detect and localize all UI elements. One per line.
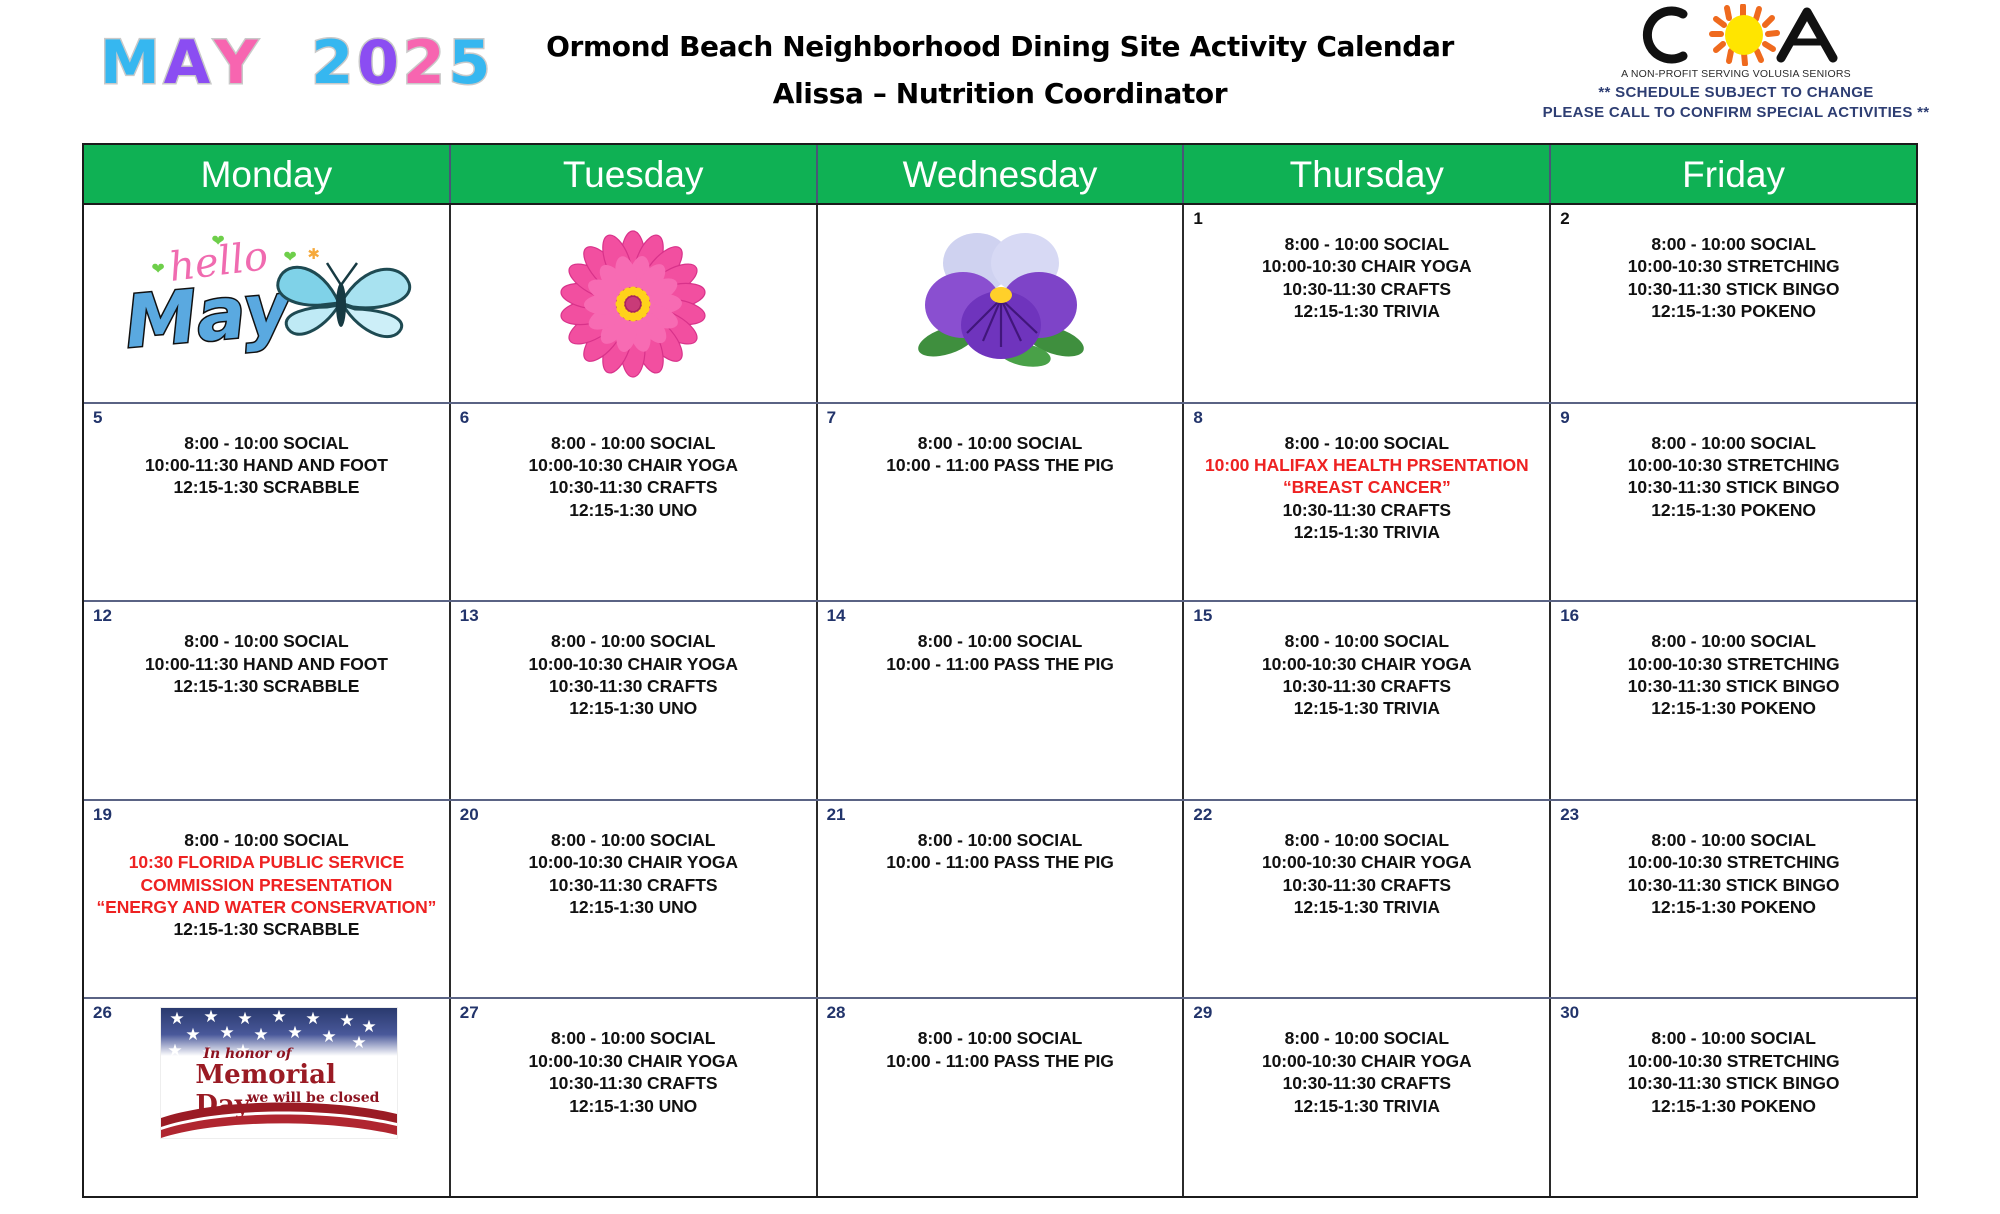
month-title: MAY 2025	[100, 28, 494, 98]
event-item: 8:00 - 10:00 SOCIAL	[457, 432, 810, 454]
event-item: 10:00 - 11:00 PASS THE PIG	[824, 851, 1177, 873]
event-item: 8:00 - 10:00 SOCIAL	[90, 630, 443, 652]
event-item: 10:00-10:30 CHAIR YOGA	[457, 851, 810, 873]
event-item: 12:15-1:30 TRIVIA	[1190, 896, 1543, 918]
event-item: 10:00 - 11:00 PASS THE PIG	[824, 1050, 1177, 1072]
day-cell-decorative-pansy[interactable]	[818, 205, 1185, 402]
event-item: 10:00 - 11:00 PASS THE PIG	[824, 653, 1177, 675]
event-item: 8:00 - 10:00 SOCIAL	[90, 829, 443, 851]
event-item: 12:15-1:30 TRIVIA	[1190, 1095, 1543, 1117]
day-number: 16	[1560, 606, 1579, 626]
event-item: 12:15-1:30 TRIVIA	[1190, 697, 1543, 719]
event-item-highlight: “ENERGY AND WATER CONSERVATION”	[90, 896, 443, 918]
memorial-holder: ★★★★★★★★★★★★★★★★In honor ofMemorial Dayw…	[90, 1007, 443, 1139]
event-item: 10:00-11:30 HAND AND FOOT	[90, 454, 443, 476]
event-list: 8:00 - 10:00 SOCIAL10:00-10:30 CHAIR YOG…	[457, 829, 810, 919]
event-item: 12:15-1:30 POKENO	[1557, 300, 1910, 322]
day-header-friday: Friday	[1551, 145, 1916, 203]
star-icon: ★	[219, 1024, 234, 1041]
month-title-letter	[287, 28, 312, 98]
event-list: 8:00 - 10:00 SOCIAL10:00-10:30 CHAIR YOG…	[1190, 630, 1543, 720]
event-item: 12:15-1:30 UNO	[457, 1095, 810, 1117]
event-item: 10:30-11:30 STICK BINGO	[1557, 278, 1910, 300]
event-item: 8:00 - 10:00 SOCIAL	[1557, 630, 1910, 652]
event-item: 10:00-10:30 STRETCHING	[1557, 1050, 1910, 1072]
event-item: 12:15-1:30 UNO	[457, 499, 810, 521]
event-item: 12:15-1:30 POKENO	[1557, 1095, 1910, 1117]
day-cell-5[interactable]: 58:00 - 10:00 SOCIAL10:00-11:30 HAND AND…	[84, 404, 451, 601]
event-list: 8:00 - 10:00 SOCIAL10:00 - 11:00 PASS TH…	[824, 1027, 1177, 1072]
event-item: 12:15-1:30 POKENO	[1557, 697, 1910, 719]
day-number: 15	[1193, 606, 1212, 626]
day-cell-decorative-hello-may[interactable]: ❤❤❤✱helloMay	[84, 205, 451, 402]
event-item: 10:00-10:30 STRETCHING	[1557, 454, 1910, 476]
butterfly-icon	[269, 245, 419, 365]
calendar-grid: MondayTuesdayWednesdayThursdayFriday ❤❤❤…	[82, 143, 1918, 1198]
event-item: 8:00 - 10:00 SOCIAL	[824, 829, 1177, 851]
day-header-tuesday: Tuesday	[451, 145, 818, 203]
event-item: 10:00-10:30 CHAIR YOGA	[457, 1050, 810, 1072]
event-list: 8:00 - 10:00 SOCIAL10:00 HALIFAX HEALTH …	[1190, 432, 1543, 544]
flag-stripes-icon	[161, 1092, 397, 1138]
event-item: 12:15-1:30 SCRABBLE	[90, 918, 443, 940]
may-text: May	[122, 266, 294, 364]
event-list: 8:00 - 10:00 SOCIAL10:00-10:30 CHAIR YOG…	[457, 432, 810, 522]
day-cell-30[interactable]: 308:00 - 10:00 SOCIAL10:00-10:30 STRETCH…	[1551, 999, 1916, 1196]
star-icon: ★	[321, 1028, 336, 1045]
star-icon: ★	[351, 1034, 366, 1051]
coa-logo-icon	[1496, 4, 1976, 66]
day-header-thursday: Thursday	[1184, 145, 1551, 203]
month-title-letter: Y	[214, 28, 261, 98]
event-list: 8:00 - 10:00 SOCIAL10:00-10:30 STRETCHIN…	[1557, 233, 1910, 323]
purple-pansy-graphic	[824, 211, 1177, 398]
day-cell-7[interactable]: 78:00 - 10:00 SOCIAL10:00 - 11:00 PASS T…	[818, 404, 1185, 601]
star-icon: ★	[287, 1024, 302, 1041]
event-list: 8:00 - 10:00 SOCIAL10:00-10:30 CHAIR YOG…	[1190, 829, 1543, 919]
event-item: 10:00 - 11:00 PASS THE PIG	[824, 454, 1177, 476]
day-number: 6	[460, 408, 469, 428]
day-number: 5	[93, 408, 102, 428]
event-item: 12:15-1:30 SCRABBLE	[90, 675, 443, 697]
event-item: 8:00 - 10:00 SOCIAL	[824, 432, 1177, 454]
month-title-letter: 5	[449, 28, 495, 98]
day-cell-16[interactable]: 168:00 - 10:00 SOCIAL10:00-10:30 STRETCH…	[1551, 602, 1916, 799]
coa-tagline: A NON-PROFIT SERVING VOLUSIA SENIORS	[1496, 68, 1976, 80]
event-item: 8:00 - 10:00 SOCIAL	[1190, 1027, 1543, 1049]
event-item: 10:30-11:30 STICK BINGO	[1557, 1072, 1910, 1094]
day-number: 13	[460, 606, 479, 626]
event-item: 8:00 - 10:00 SOCIAL	[90, 432, 443, 454]
event-list: 8:00 - 10:00 SOCIAL10:00-10:30 CHAIR YOG…	[457, 630, 810, 720]
event-item: 10:30-11:30 CRAFTS	[1190, 278, 1543, 300]
event-item: 8:00 - 10:00 SOCIAL	[1190, 233, 1543, 255]
star-icon: ★	[169, 1010, 184, 1027]
event-item: 8:00 - 10:00 SOCIAL	[1557, 432, 1910, 454]
event-item-highlight: 10:00 HALIFAX HEALTH PRSENTATION	[1190, 454, 1543, 476]
event-item: 10:30-11:30 STICK BINGO	[1557, 675, 1910, 697]
event-item: 12:15-1:30 POKENO	[1557, 896, 1910, 918]
day-cell-23[interactable]: 238:00 - 10:00 SOCIAL10:00-10:30 STRETCH…	[1551, 801, 1916, 998]
event-item: 10:00-10:30 CHAIR YOGA	[457, 454, 810, 476]
hello-may-graphic: ❤❤❤✱helloMay	[90, 211, 443, 398]
day-number: 20	[460, 805, 479, 825]
star-icon: ★	[203, 1008, 218, 1025]
event-item: 10:30-11:30 CRAFTS	[457, 476, 810, 498]
event-item-highlight: 10:30 FLORIDA PUBLIC SERVICE COMMISSION …	[90, 851, 443, 896]
event-list: 8:00 - 10:00 SOCIAL10:00 - 11:00 PASS TH…	[824, 829, 1177, 874]
day-cell-28[interactable]: 288:00 - 10:00 SOCIAL10:00 - 11:00 PASS …	[818, 999, 1185, 1196]
event-list: 8:00 - 10:00 SOCIAL10:00 - 11:00 PASS TH…	[824, 630, 1177, 675]
event-item: 10:00-11:30 HAND AND FOOT	[90, 653, 443, 675]
day-number: 29	[1193, 1003, 1212, 1023]
flower-icon	[905, 229, 1095, 379]
day-number: 14	[827, 606, 846, 626]
star-icon: ★	[339, 1012, 354, 1029]
event-item: 10:30-11:30 CRAFTS	[1190, 499, 1543, 521]
star-icon: ★	[305, 1010, 320, 1027]
day-cell-6[interactable]: 68:00 - 10:00 SOCIAL10:00-10:30 CHAIR YO…	[451, 404, 818, 601]
calendar-week-row: 198:00 - 10:00 SOCIAL10:30 FLORIDA PUBLI…	[84, 801, 1916, 1000]
day-number: 22	[1193, 805, 1212, 825]
day-cell-22[interactable]: 228:00 - 10:00 SOCIAL10:00-10:30 CHAIR Y…	[1184, 801, 1551, 998]
month-title-letter	[262, 28, 287, 98]
event-item: 10:00-10:30 STRETCHING	[1557, 851, 1910, 873]
day-of-week-header-row: MondayTuesdayWednesdayThursdayFriday	[84, 145, 1916, 203]
day-cell-19[interactable]: 198:00 - 10:00 SOCIAL10:30 FLORIDA PUBLI…	[84, 801, 451, 998]
event-list: 8:00 - 10:00 SOCIAL10:00-10:30 STRETCHIN…	[1557, 829, 1910, 919]
day-cell-20[interactable]: 208:00 - 10:00 SOCIAL10:00-10:30 CHAIR Y…	[451, 801, 818, 998]
event-item: 10:30-11:30 CRAFTS	[1190, 675, 1543, 697]
event-item: 8:00 - 10:00 SOCIAL	[1190, 630, 1543, 652]
calendar-week-row: 58:00 - 10:00 SOCIAL10:00-11:30 HAND AND…	[84, 404, 1916, 603]
event-list: 8:00 - 10:00 SOCIAL10:00-10:30 CHAIR YOG…	[457, 1027, 810, 1117]
day-number: 7	[827, 408, 836, 428]
day-number: 21	[827, 805, 846, 825]
day-header-monday: Monday	[84, 145, 451, 203]
event-item: 10:00-10:30 CHAIR YOGA	[1190, 851, 1543, 873]
title-block: Ormond Beach Neighborhood Dining Site Ac…	[540, 30, 1460, 110]
event-item: 12:15-1:30 POKENO	[1557, 499, 1910, 521]
event-list: 8:00 - 10:00 SOCIAL10:00-11:30 HAND AND …	[90, 432, 443, 499]
day-cell-12[interactable]: 128:00 - 10:00 SOCIAL10:00-11:30 HAND AN…	[84, 602, 451, 799]
event-item: 8:00 - 10:00 SOCIAL	[1557, 829, 1910, 851]
event-item: 10:30-11:30 CRAFTS	[457, 874, 810, 896]
event-item: 8:00 - 10:00 SOCIAL	[1190, 432, 1543, 454]
event-list: 8:00 - 10:00 SOCIAL10:00 - 11:00 PASS TH…	[824, 432, 1177, 477]
schedule-note-line1: ** SCHEDULE SUBJECT TO CHANGE	[1496, 84, 1976, 101]
event-item: 8:00 - 10:00 SOCIAL	[824, 630, 1177, 652]
event-item: 8:00 - 10:00 SOCIAL	[1557, 233, 1910, 255]
day-cell-14[interactable]: 148:00 - 10:00 SOCIAL10:00 - 11:00 PASS …	[818, 602, 1185, 799]
calendar-week-row: 26★★★★★★★★★★★★★★★★In honor ofMemorial Da…	[84, 999, 1916, 1196]
event-item: 10:00-10:30 CHAIR YOGA	[1190, 255, 1543, 277]
event-item: 8:00 - 10:00 SOCIAL	[824, 1027, 1177, 1049]
event-item: 10:30-11:30 STICK BINGO	[1557, 476, 1910, 498]
month-title-letter: A	[164, 28, 214, 98]
star-icon: ★	[237, 1010, 252, 1027]
page-header: MAY 2025 Ormond Beach Neighborhood Dinin…	[0, 0, 2000, 140]
month-title-letter: M	[100, 28, 164, 98]
star-icon: ★	[185, 1026, 200, 1043]
event-item: 8:00 - 10:00 SOCIAL	[457, 829, 810, 851]
day-number: 23	[1560, 805, 1579, 825]
event-item: 10:00-10:30 CHAIR YOGA	[457, 653, 810, 675]
month-title-letter: 0	[357, 28, 403, 98]
flower-icon	[554, 229, 712, 379]
event-item: 8:00 - 10:00 SOCIAL	[1557, 1027, 1910, 1049]
day-cell-15[interactable]: 158:00 - 10:00 SOCIAL10:00-10:30 CHAIR Y…	[1184, 602, 1551, 799]
calendar-page: MAY 2025 Ormond Beach Neighborhood Dinin…	[0, 0, 2000, 1214]
memorial-day-graphic: ★★★★★★★★★★★★★★★★In honor ofMemorial Dayw…	[160, 1007, 398, 1139]
event-item: 8:00 - 10:00 SOCIAL	[457, 630, 810, 652]
event-item: 10:30-11:30 CRAFTS	[457, 1072, 810, 1094]
day-cell-29[interactable]: 298:00 - 10:00 SOCIAL10:00-10:30 CHAIR Y…	[1184, 999, 1551, 1196]
event-item: 10:30-11:30 CRAFTS	[1190, 1072, 1543, 1094]
day-cell-26[interactable]: 26★★★★★★★★★★★★★★★★In honor ofMemorial Da…	[84, 999, 451, 1196]
day-cell-13[interactable]: 138:00 - 10:00 SOCIAL10:00-10:30 CHAIR Y…	[451, 602, 818, 799]
day-cell-1[interactable]: 18:00 - 10:00 SOCIAL10:00-10:30 CHAIR YO…	[1184, 205, 1551, 402]
day-number: 8	[1193, 408, 1202, 428]
event-list: 8:00 - 10:00 SOCIAL10:00-10:30 STRETCHIN…	[1557, 1027, 1910, 1117]
star-icon: ★	[271, 1008, 286, 1025]
calendar-weeks: ❤❤❤✱helloMay18:00 - 10:00 SOCIAL10:00-10…	[84, 203, 1916, 1196]
event-list: 8:00 - 10:00 SOCIAL10:00-10:30 STRETCHIN…	[1557, 432, 1910, 522]
day-cell-21[interactable]: 218:00 - 10:00 SOCIAL10:00 - 11:00 PASS …	[818, 801, 1185, 998]
day-number: 30	[1560, 1003, 1579, 1023]
day-cell-2[interactable]: 28:00 - 10:00 SOCIAL10:00-10:30 STRETCHI…	[1551, 205, 1916, 402]
pink-flower-graphic	[457, 211, 810, 398]
event-item: 8:00 - 10:00 SOCIAL	[1190, 829, 1543, 851]
event-list: 8:00 - 10:00 SOCIAL10:00-10:30 STRETCHIN…	[1557, 630, 1910, 720]
day-number: 2	[1560, 209, 1569, 229]
event-item: 10:00-10:30 CHAIR YOGA	[1190, 653, 1543, 675]
page-title: Ormond Beach Neighborhood Dining Site Ac…	[540, 30, 1460, 63]
day-cell-8[interactable]: 88:00 - 10:00 SOCIAL10:00 HALIFAX HEALTH…	[1184, 404, 1551, 601]
event-item: 10:00-10:30 CHAIR YOGA	[1190, 1050, 1543, 1072]
schedule-note-line2: PLEASE CALL TO CONFIRM SPECIAL ACTIVITIE…	[1496, 104, 1976, 121]
event-item: 12:15-1:30 TRIVIA	[1190, 300, 1543, 322]
day-cell-27[interactable]: 278:00 - 10:00 SOCIAL10:00-10:30 CHAIR Y…	[451, 999, 818, 1196]
event-item: 10:30-11:30 STICK BINGO	[1557, 874, 1910, 896]
event-item: 10:30-11:30 CRAFTS	[457, 675, 810, 697]
day-number: 28	[827, 1003, 846, 1023]
day-cell-decorative-pink-flower[interactable]	[451, 205, 818, 402]
day-number: 9	[1560, 408, 1569, 428]
day-cell-9[interactable]: 98:00 - 10:00 SOCIAL10:00-10:30 STRETCHI…	[1551, 404, 1916, 601]
day-number: 12	[93, 606, 112, 626]
page-subtitle: Alissa – Nutrition Coordinator	[540, 77, 1460, 110]
event-item: 8:00 - 10:00 SOCIAL	[457, 1027, 810, 1049]
event-item: 10:00-10:30 STRETCHING	[1557, 653, 1910, 675]
star-icon: ★	[253, 1026, 268, 1043]
event-list: 8:00 - 10:00 SOCIAL10:30 FLORIDA PUBLIC …	[90, 829, 443, 941]
event-list: 8:00 - 10:00 SOCIAL10:00-11:30 HAND AND …	[90, 630, 443, 697]
event-list: 8:00 - 10:00 SOCIAL10:00-10:30 CHAIR YOG…	[1190, 1027, 1543, 1117]
event-item: 12:15-1:30 UNO	[457, 697, 810, 719]
day-number: 1	[1193, 209, 1202, 229]
day-number: 26	[93, 1003, 112, 1023]
event-item: 12:15-1:30 TRIVIA	[1190, 521, 1543, 543]
event-item: 12:15-1:30 SCRABBLE	[90, 476, 443, 498]
event-item-highlight: “BREAST CANCER”	[1190, 476, 1543, 498]
calendar-week-row: 128:00 - 10:00 SOCIAL10:00-11:30 HAND AN…	[84, 602, 1916, 801]
coa-logo-block: A NON-PROFIT SERVING VOLUSIA SENIORS ** …	[1496, 4, 1976, 121]
event-item: 10:00-10:30 STRETCHING	[1557, 255, 1910, 277]
day-number: 19	[93, 805, 112, 825]
calendar-week-row: ❤❤❤✱helloMay18:00 - 10:00 SOCIAL10:00-10…	[84, 205, 1916, 404]
star-icon: ★	[167, 1042, 182, 1059]
month-title-letter: 2	[403, 28, 449, 98]
event-item: 12:15-1:30 UNO	[457, 896, 810, 918]
event-item: 10:30-11:30 CRAFTS	[1190, 874, 1543, 896]
day-number: 27	[460, 1003, 479, 1023]
month-title-letter: 2	[311, 28, 357, 98]
event-list: 8:00 - 10:00 SOCIAL10:00-10:30 CHAIR YOG…	[1190, 233, 1543, 323]
day-header-wednesday: Wednesday	[818, 145, 1185, 203]
